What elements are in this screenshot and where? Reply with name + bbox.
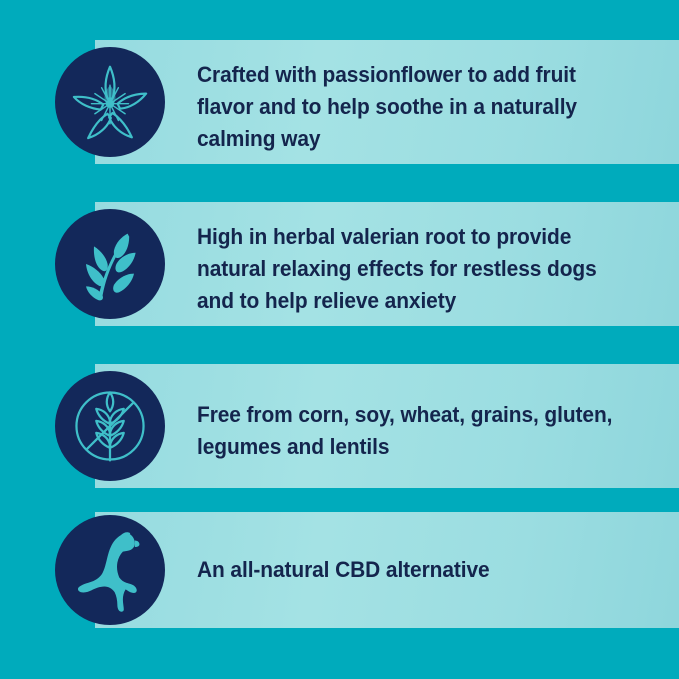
feature-list-infographic: Crafted with passionflower to add fruit … [0,0,679,679]
feature-text: High in herbal valerian root to provide … [197,221,617,317]
feature-text: Free from corn, soy, wheat, grains, glut… [197,399,617,463]
feature-row: Free from corn, soy, wheat, grains, glut… [0,364,679,488]
passionflower-icon [55,47,165,157]
valerian-leaf-icon [55,209,165,319]
feature-text: An all-natural CBD alternative [197,554,617,586]
feature-row: High in herbal valerian root to provide … [0,202,679,326]
grain-free-wheat-icon [55,371,165,481]
feature-row: Crafted with passionflower to add fruit … [0,40,679,164]
dog-icon [55,515,165,625]
feature-row: An all-natural CBD alternative [0,512,679,628]
feature-text: Crafted with passionflower to add fruit … [197,59,617,155]
